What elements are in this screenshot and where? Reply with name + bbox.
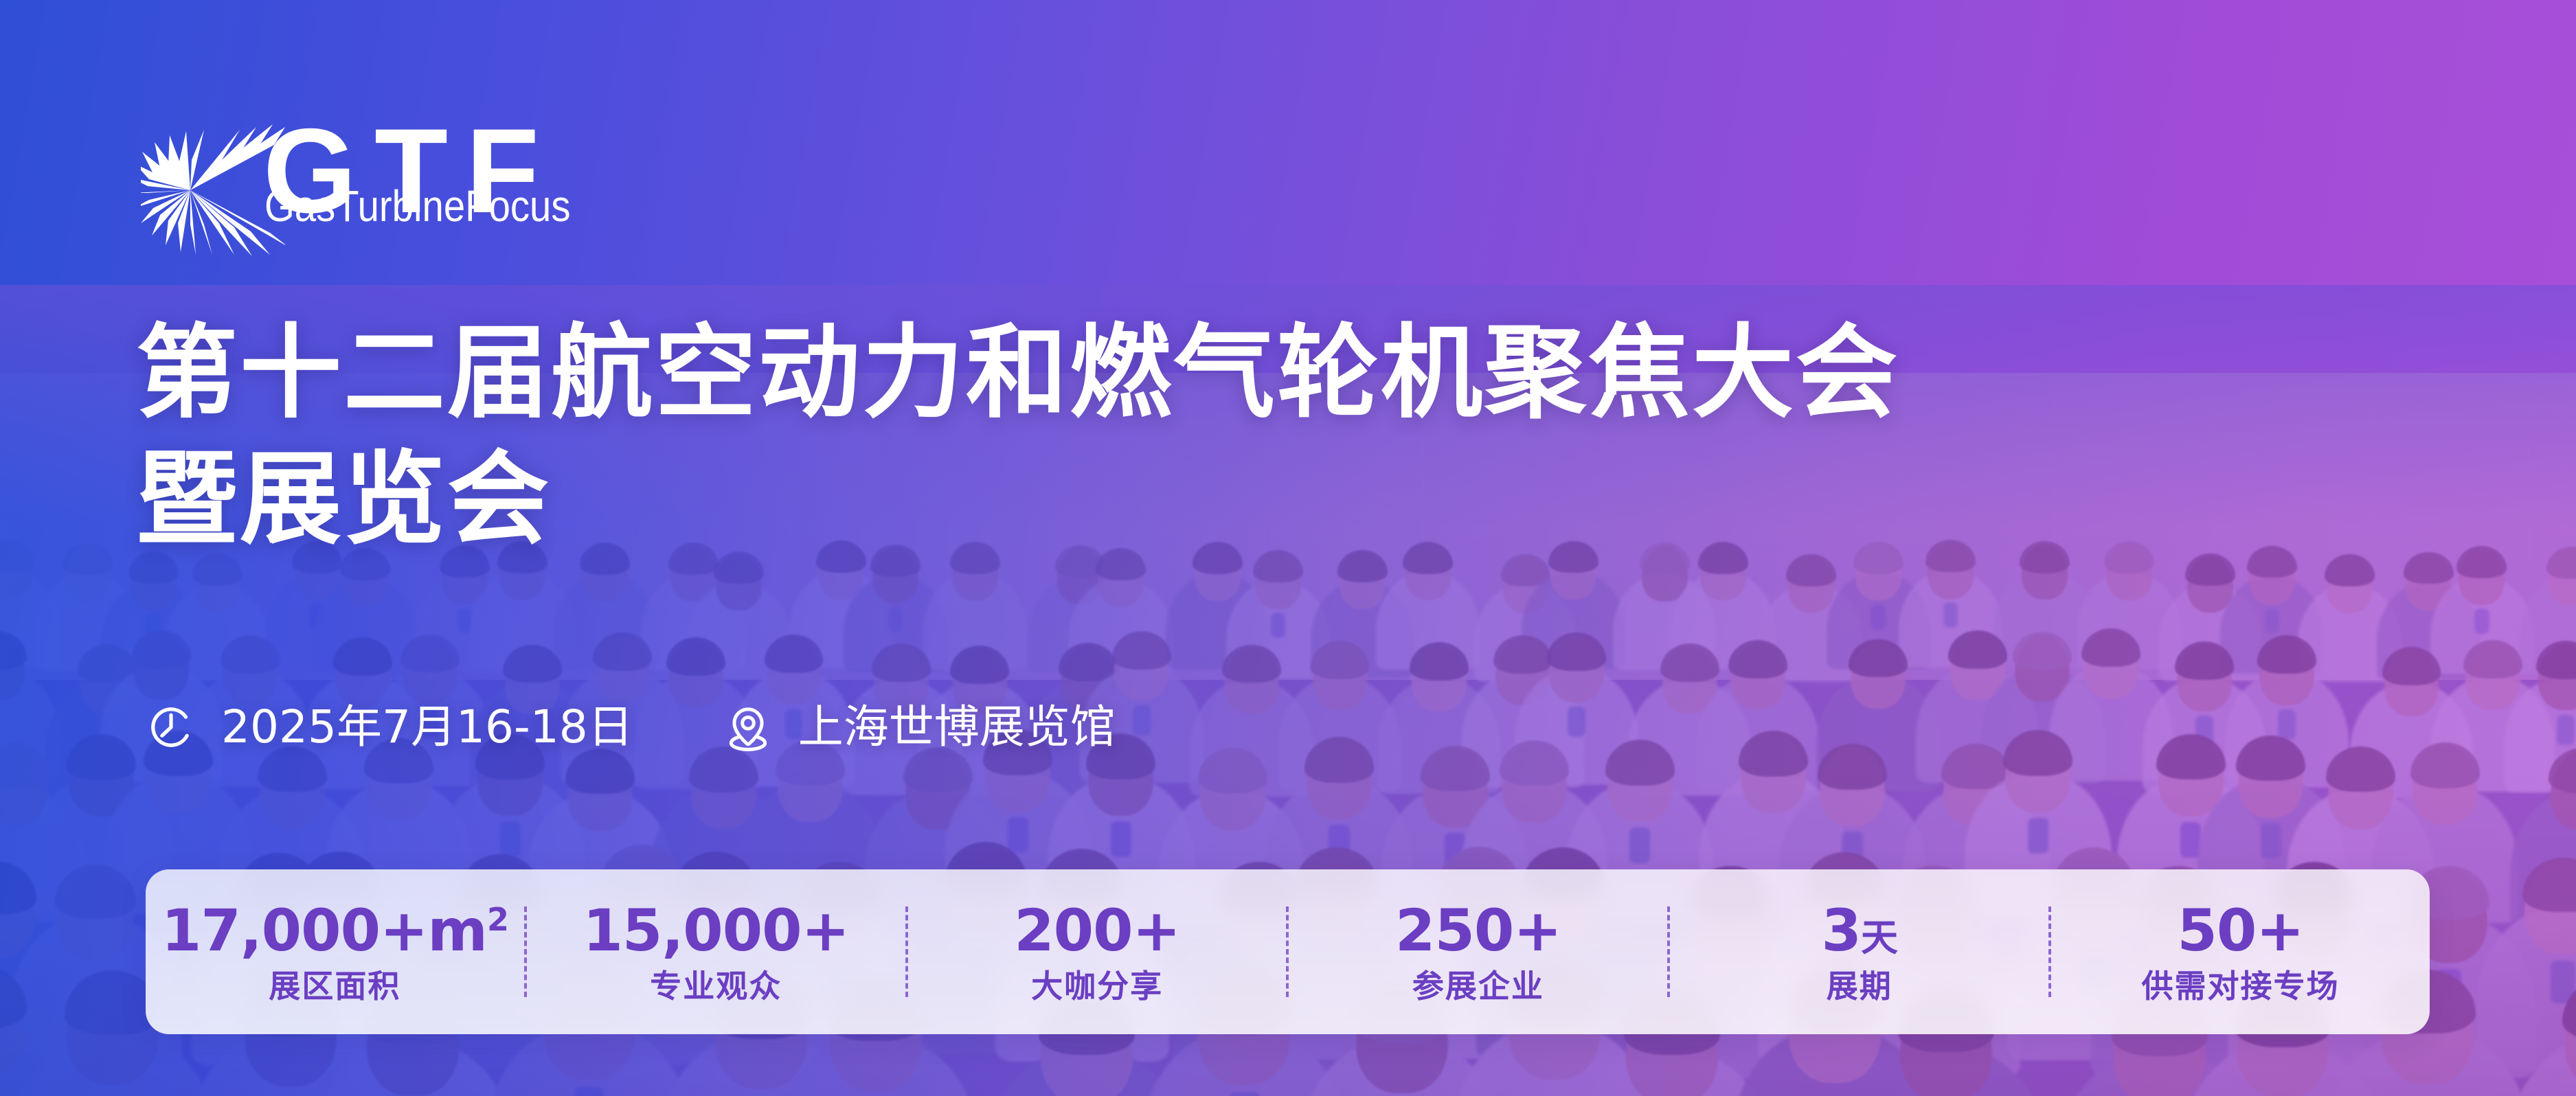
stat-unit-exponent: 2 [487, 901, 508, 938]
stat-value: 50+ [2177, 902, 2303, 959]
clock-icon [146, 702, 196, 753]
headline-line-2: 暨展览会 [136, 437, 1899, 563]
event-venue: 上海世博展览馆 [723, 702, 1116, 753]
event-date-text: 2025年7月16-18日 [221, 705, 633, 750]
event-venue-text: 上海世博展览馆 [798, 705, 1116, 750]
headline-line-1: 第十二届航空动力和燃气轮机聚焦大会 [136, 314, 1899, 432]
stat-item: 250+参展企业 [1289, 869, 1667, 1034]
logo-expansion-text: GasTurbineFocus [264, 184, 571, 228]
stat-unit: m [427, 897, 487, 964]
stat-item: 17,000+m2展区面积 [146, 869, 524, 1034]
stat-item: 50+供需对接专场 [2051, 869, 2430, 1034]
gtf-logo[interactable]: GTF GasTurbineFocus [141, 117, 526, 261]
stat-label: 供需对接专场 [2142, 970, 2340, 1002]
stat-value: 250+ [1395, 902, 1561, 959]
stat-item: 15,000+专业观众 [527, 869, 905, 1034]
stat-value: 15,000+ [583, 902, 849, 959]
stats-bar: 17,000+m2展区面积15,000+专业观众200+大咖分享250+参展企业… [146, 869, 2430, 1034]
stat-value: 17,000+m2 [161, 902, 508, 959]
event-meta: 2025年7月16-18日 上海世博展览馆 [146, 702, 1116, 753]
stat-item: 3天展期 [1670, 869, 2048, 1034]
page-title: 第十二届航空动力和燃气轮机聚焦大会 暨展览会 [136, 310, 1899, 562]
event-date: 2025年7月16-18日 [146, 702, 633, 753]
event-banner: GTF GasTurbineFocus 第十二届航空动力和燃气轮机聚焦大会 暨展… [0, 0, 2576, 1096]
stat-label: 大咖分享 [1031, 970, 1163, 1002]
location-pin-icon [723, 702, 773, 753]
stat-label: 展区面积 [269, 970, 400, 1002]
stat-label: 参展企业 [1412, 970, 1544, 1002]
stat-unit-cn: 天 [1861, 916, 1897, 959]
stat-value: 200+ [1014, 902, 1180, 959]
stat-value: 3天 [1822, 902, 1897, 959]
stat-item: 200+大咖分享 [908, 869, 1287, 1034]
logo-wordmark: GTF GasTurbineFocus [263, 117, 531, 254]
stat-label: 专业观众 [650, 970, 782, 1002]
stat-label: 展期 [1827, 970, 1893, 1002]
